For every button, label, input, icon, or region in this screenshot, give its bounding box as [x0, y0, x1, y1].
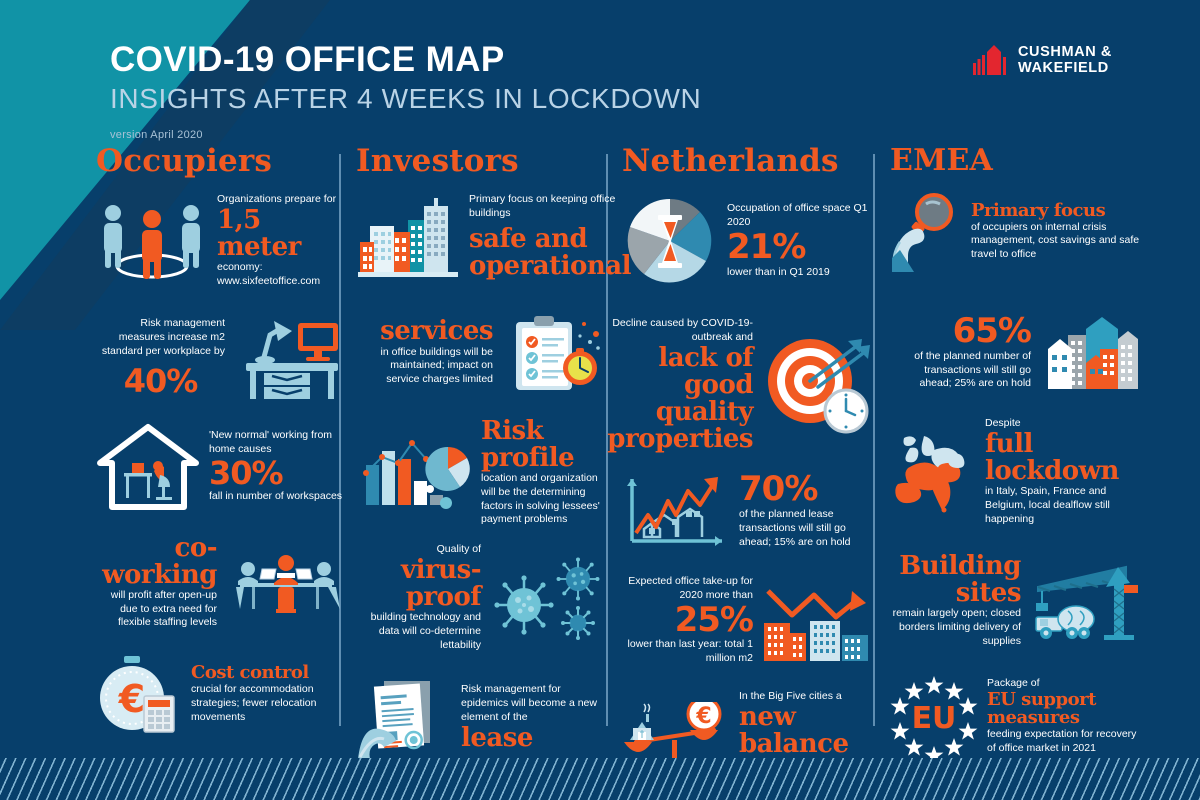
- item-text: Risk management measures increase m2 sta…: [96, 317, 225, 398]
- city-skyline-icon: [1040, 315, 1140, 391]
- hand-magnifying-glass-icon: [890, 192, 962, 272]
- item-65-percent: 65% of the planned number of transaction…: [890, 314, 1140, 391]
- line-highlight: lack of good quality properties: [607, 345, 753, 453]
- desk-lamp-monitor-icon: [234, 315, 346, 401]
- line-body: will profit after open-up due to extra n…: [96, 589, 217, 631]
- column-heading-netherlands: Netherlands: [622, 146, 872, 177]
- line-highlight: virus-proof: [356, 557, 481, 611]
- item-text: Primary focus of occupiers on internal c…: [971, 202, 1140, 262]
- virus-particles-icon: [490, 553, 606, 643]
- item-text: Risk management for epidemics will becom…: [461, 683, 606, 752]
- line-highlight: co-working: [96, 535, 217, 589]
- line-highlight: lease: [461, 725, 606, 752]
- home-office-house-icon: [96, 423, 200, 511]
- item-text: 70% of the planned lease transactions wi…: [739, 472, 872, 549]
- rising-chart-houses-icon: [622, 471, 730, 551]
- line-highlight: full lockdown: [985, 431, 1140, 485]
- line-body-2: feeding expectation for recovery of offi…: [987, 728, 1140, 756]
- item-risk-profile: Risk profile location and organization w…: [356, 418, 606, 528]
- logo-bars-icon: [973, 45, 1009, 75]
- line-highlight: Risk profile: [481, 418, 606, 472]
- page-title: COVID-19 OFFICE MAP: [110, 42, 810, 79]
- item-text: 'New normal' working from home causes 30…: [209, 429, 346, 504]
- item-eu-support: EU Package of EU support measures feedin…: [890, 674, 1140, 758]
- line-highlight: 1,5 meter: [217, 207, 346, 261]
- line-stat: 25%: [622, 603, 753, 639]
- item-full-lockdown: Despite full lockdown in Italy, Spain, F…: [890, 417, 1140, 527]
- stopwatch-euro-calculator-icon: €: [96, 654, 182, 734]
- line-body: in office buildings will be maintained; …: [356, 346, 493, 388]
- item-text: Cost control crucial for accommodation s…: [191, 664, 346, 724]
- line-body: Decline caused by COVID-19-outbreak and: [607, 317, 753, 345]
- line-stat: 40%: [96, 365, 225, 399]
- item-text: 65% of the planned number of transaction…: [890, 314, 1031, 391]
- clipboard-checklist-stopwatch-icon: [502, 310, 606, 396]
- pie-chart-hourglass-icon: [622, 193, 718, 289]
- item-text: Expected office take-up for 2020 more th…: [622, 575, 753, 666]
- cushman-wakefield-logo: CUSHMAN & WAKEFIELD: [973, 44, 1112, 76]
- column-emea: EMEA Primary focus of occupiers on i: [890, 146, 1140, 764]
- svg-text:EU: EU: [912, 701, 957, 736]
- item-text: Despite full lockdown in Italy, Spain, F…: [985, 417, 1140, 527]
- content-columns: Occupiers: [0, 146, 1200, 746]
- item-40-percent: Risk management measures increase m2 sta…: [96, 315, 346, 401]
- line-highlight: services: [356, 318, 493, 345]
- line-stat: 70%: [739, 472, 872, 508]
- line-body: of occupiers on internal crisis manageme…: [971, 221, 1140, 263]
- svg-text:€: €: [695, 704, 711, 729]
- item-1-5-meter: Organizations prepare for 1,5 meter econ…: [96, 193, 346, 289]
- item-text: Package of EU support measures feeding e…: [987, 677, 1140, 756]
- item-text: Occupation of office space Q1 2020 21% l…: [727, 202, 872, 279]
- line-body: Primary focus on keeping office building…: [469, 193, 631, 221]
- column-occupiers: Occupiers: [96, 146, 346, 740]
- line-body: Expected office take-up for 2020 more th…: [622, 575, 753, 603]
- item-21-percent: Occupation of office space Q1 2020 21% l…: [622, 193, 872, 289]
- line-highlight: Cost control: [191, 664, 346, 683]
- item-virus-proof: Quality of virus-proof building technolo…: [356, 543, 606, 653]
- infographic-poster: COVID-19 OFFICE MAP INSIGHTS AFTER 4 WEE…: [0, 0, 1200, 800]
- logo-wordmark: CUSHMAN & WAKEFIELD: [1018, 44, 1112, 76]
- three-people-distancing-icon: [96, 200, 208, 282]
- item-co-working: co-working will profit after open-up due…: [96, 535, 346, 631]
- item-building-sites: Building sites remain largely open; clos…: [890, 553, 1140, 649]
- line-body-2: economy: www.sixfeetoffice.com: [217, 261, 346, 289]
- line-body: Risk management measures increase m2 sta…: [96, 317, 225, 359]
- item-text: co-working will profit after open-up due…: [96, 535, 217, 631]
- line-body: location and organization will be the de…: [481, 472, 606, 527]
- line-body-2: in Italy, Spain, France and Belgium, loc…: [985, 485, 1140, 527]
- column-divider-3: [873, 154, 875, 726]
- europe-map-icon: [890, 430, 976, 514]
- line-body: of the planned lease transactions will s…: [739, 508, 872, 550]
- line-body-2: fall in number of workspaces: [209, 490, 346, 504]
- item-text: Building sites remain largely open; clos…: [890, 553, 1021, 649]
- target-arrows-clock-icon: [762, 335, 872, 435]
- item-30-percent: 'New normal' working from home causes 30…: [96, 423, 346, 511]
- item-lease: Risk management for epidemics will becom…: [356, 675, 606, 761]
- line-highlight: Primary focus: [971, 202, 1140, 221]
- svg-text:€: €: [118, 677, 145, 721]
- line-body-2: lower than last year: total 1 million m2: [622, 638, 753, 666]
- item-text: Decline caused by COVID-19-outbreak and …: [607, 317, 753, 453]
- office-buildings-icon: [356, 194, 460, 278]
- declining-arrow-buildings-icon: [762, 577, 872, 663]
- column-investors: Investors: [356, 146, 606, 767]
- line-stat: 30%: [209, 457, 346, 491]
- logo-line-2: WAKEFIELD: [1018, 60, 1112, 76]
- item-safe-operational: Primary focus on keeping office building…: [356, 193, 606, 280]
- line-body: crucial for accommodation strategies; fe…: [191, 683, 346, 725]
- line-stat: 65%: [890, 314, 1031, 350]
- item-lack-quality: Decline caused by COVID-19-outbreak and …: [622, 317, 872, 453]
- version-label: version April 2020: [110, 129, 810, 141]
- column-netherlands: Netherlands: [622, 146, 872, 800]
- line-body: remain largely open; closed borders limi…: [890, 607, 1021, 649]
- bottom-stripe-band: [0, 758, 1200, 800]
- item-70-percent: 70% of the planned lease transactions wi…: [622, 471, 872, 551]
- item-cost-control: € Cost control crucial for accommodation…: [96, 654, 346, 734]
- item-text: Primary focus on keeping office building…: [469, 193, 631, 280]
- column-heading-emea: EMEA: [890, 146, 1140, 176]
- line-highlight: safe and operational: [469, 226, 631, 280]
- item-primary-focus: Primary focus of occupiers on internal c…: [890, 192, 1140, 272]
- item-25-percent: Expected office take-up for 2020 more th…: [622, 575, 872, 666]
- line-highlight: new balance: [739, 704, 872, 758]
- item-text: Organizations prepare for 1,5 meter econ…: [217, 193, 346, 289]
- page-subtitle: INSIGHTS AFTER 4 WEEKS IN LOCKDOWN: [110, 83, 810, 115]
- crane-cement-mixer-icon: [1030, 561, 1140, 641]
- poster-header: COVID-19 OFFICE MAP INSIGHTS AFTER 4 WEE…: [110, 42, 810, 141]
- eu-flag-stars-icon: EU: [890, 674, 978, 758]
- line-body: Risk management for epidemics will becom…: [461, 683, 606, 725]
- bar-chart-pie-chart-icon: [356, 429, 472, 517]
- column-heading-occupiers: Occupiers: [96, 146, 346, 177]
- line-stat: 21%: [727, 230, 872, 266]
- line-body: of the planned number of transactions wi…: [890, 350, 1031, 392]
- item-services: services in office buildings will be mai…: [356, 310, 606, 396]
- line-highlight: EU support measures: [987, 691, 1140, 728]
- logo-line-1: CUSHMAN &: [1018, 44, 1112, 60]
- line-highlight: Building sites: [890, 553, 1021, 607]
- line-body-2: lower than in Q1 2019: [727, 266, 872, 280]
- coworking-table-people-icon: [226, 543, 346, 621]
- item-text: services in office buildings will be mai…: [356, 318, 493, 387]
- line-body: 'New normal' working from home causes: [209, 429, 346, 457]
- item-text: Risk profile location and organization w…: [481, 418, 606, 528]
- item-text: Quality of virus-proof building technolo…: [356, 543, 481, 653]
- hand-holding-document-icon: [356, 675, 452, 761]
- line-body-2: building technology and data will co-det…: [356, 611, 481, 653]
- line-body: Occupation of office space Q1 2020: [727, 202, 872, 230]
- column-heading-investors: Investors: [356, 146, 606, 177]
